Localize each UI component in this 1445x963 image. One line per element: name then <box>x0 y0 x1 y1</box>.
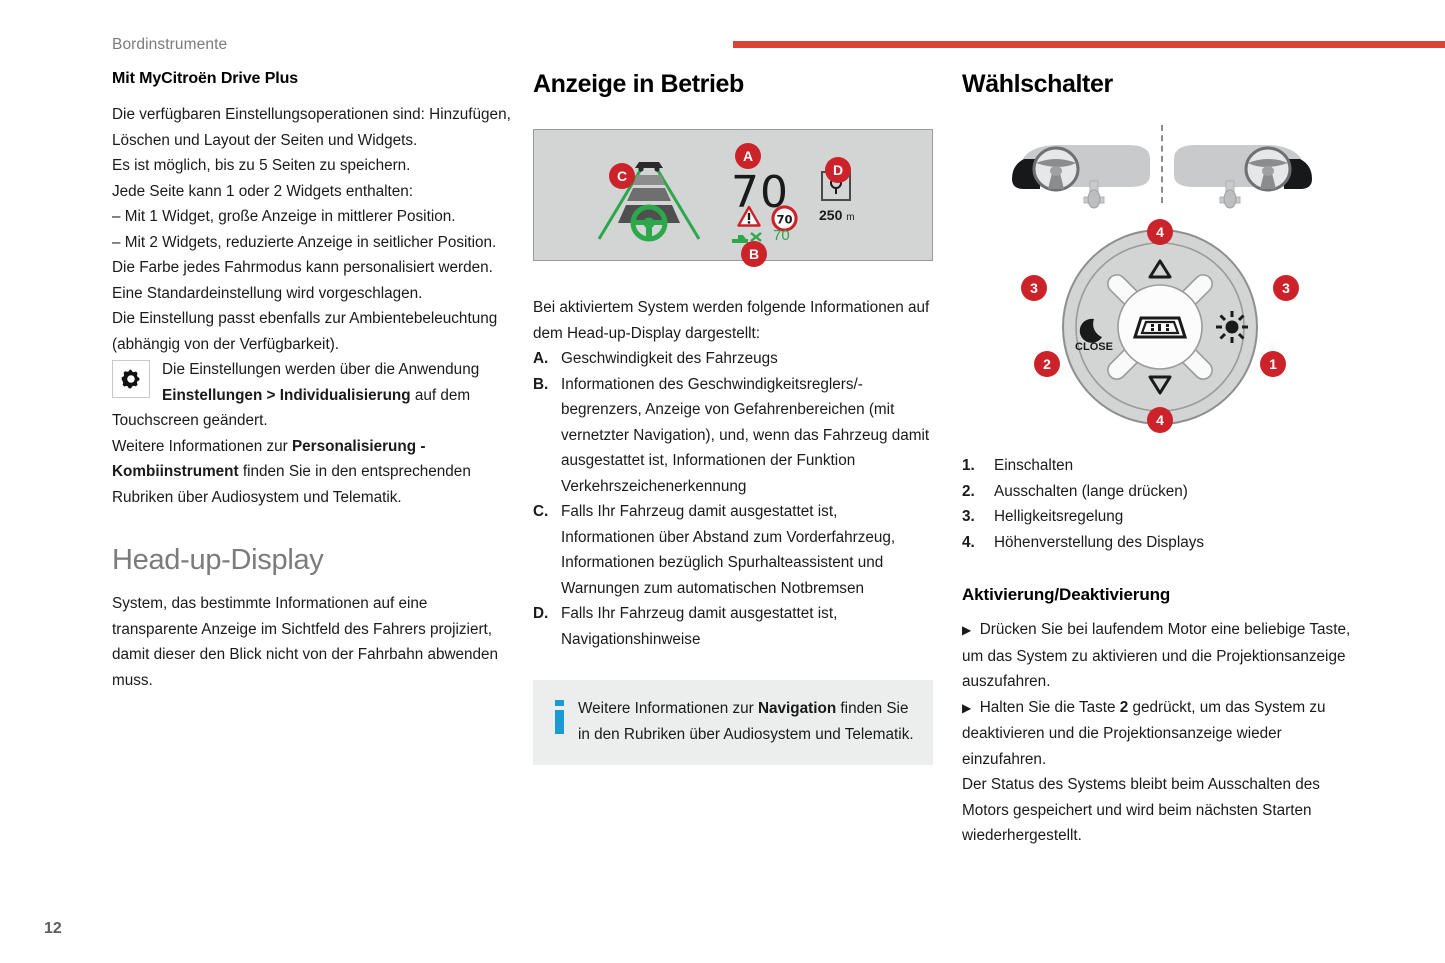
hud-item-d-text: Falls Ihr Fahrzeug damit ausgestattet is… <box>561 601 933 652</box>
header-rule <box>733 41 1445 48</box>
dial-legend-item-1: 1. Einschalten <box>962 453 1362 479</box>
paragraph-widgets-per-page: Jede Seite kann 1 oder 2 Widgets enthalt… <box>112 179 512 205</box>
dial-badge-2: 2 <box>1034 351 1060 377</box>
page-body: Mit MyCitroën Drive Plus Die verfügbaren… <box>0 70 1445 963</box>
gear-note-text-before: Die Einstellungen werden über die Anwend… <box>162 361 479 378</box>
hud-item-d-key: D. <box>533 601 561 652</box>
heading-anzeige-in-betrieb: Anzeige in Betrieb <box>533 70 933 99</box>
dial-badge-3-right: 3 <box>1273 275 1299 301</box>
bullet-one-widget: – Mit 1 Widget, große Anzeige in mittler… <box>112 204 512 230</box>
arrow-instruction-1-text: Drücken Sie bei laufendem Motor eine bel… <box>962 621 1350 690</box>
info-callout-bold: Navigation <box>758 700 836 717</box>
dial-legend-1-text: Einschalten <box>994 453 1073 479</box>
left-hand-drive-dashboard <box>1012 145 1150 208</box>
dial-legend-item-3: 3. Helligkeitsregelung <box>962 504 1362 530</box>
callout-badge-a: A <box>735 143 761 169</box>
hud-item-a-key: A. <box>533 346 561 372</box>
callout-badge-b: B <box>741 241 767 267</box>
navigation-distance-value: 250 <box>819 207 842 223</box>
dial-badge-4-bottom: 4 <box>1147 407 1173 433</box>
arrow-instruction-1: ▶ Drücken Sie bei laufendem Motor eine b… <box>962 617 1362 695</box>
dial-legend-4-key: 4. <box>962 530 994 556</box>
paragraph-status-memory: Der Status des Systems bleibt beim Aussc… <box>962 772 1362 849</box>
callout-badge-c: C <box>609 163 635 189</box>
svg-text:70: 70 <box>776 212 792 226</box>
dial-legend-2-text: Ausschalten (lange drücken) <box>994 479 1188 505</box>
callout-badge-d: D <box>825 157 851 183</box>
navigation-distance-unit: m <box>846 212 854 223</box>
dial-badge-1: 1 <box>1260 351 1286 377</box>
dial-legend-1-key: 1. <box>962 453 994 479</box>
dial-legend-item-2: 2. Ausschalten (lange drücken) <box>962 479 1362 505</box>
dial-legend-3-key: 3. <box>962 504 994 530</box>
arrow-instruction-2: ▶ Halten Sie die Taste 2 gedrückt, um da… <box>962 695 1362 773</box>
page-number: 12 <box>44 920 62 938</box>
hud-item-list: A. Geschwindigkeit des Fahrzeugs B. Info… <box>533 346 933 652</box>
cruise-speed-value: 70 <box>773 227 790 244</box>
page-header: Bordinstrumente <box>0 0 1445 70</box>
svg-text:CLOSE: CLOSE <box>1075 341 1113 353</box>
dashed-divider <box>1161 125 1163 203</box>
column-middle: Anzeige in Betrieb <box>533 70 933 765</box>
arrow-bullet-icon-1: ▶ <box>962 623 971 637</box>
column-right: Wählschalter <box>962 70 1362 849</box>
dial-legend-list: 1. Einschalten 2. Ausschalten (lange drü… <box>962 453 1362 555</box>
navigation-distance: 250 m <box>819 207 855 223</box>
hud-item-b: B. Informationen des Geschwindigkeitsreg… <box>533 372 933 500</box>
lane-keeping-assist-icon <box>591 153 707 250</box>
hud-item-c-key: C. <box>533 499 561 601</box>
dial-graphic: CLOSE <box>1030 221 1290 438</box>
hud-item-c-text: Falls Ihr Fahrzeug damit ausgestattet is… <box>561 499 933 601</box>
dial-legend-2-key: 2. <box>962 479 994 505</box>
paragraph-max-pages: Es ist möglich, bis zu 5 Seiten zu speic… <box>112 153 512 179</box>
hud-item-b-text: Informationen des Geschwindigkeitsregler… <box>561 372 933 500</box>
paragraph-ambient-lighting: Die Einstellung passt ebenfalls zur Ambi… <box>112 306 512 357</box>
hud-item-a-text: Geschwindigkeit des Fahrzeugs <box>561 346 933 372</box>
info-callout-part-1: Weitere Informationen zur <box>578 700 758 717</box>
info-callout: Weitere Informationen zur Navigation fin… <box>533 680 933 765</box>
heading-waehlschalter: Wählschalter <box>962 70 1362 99</box>
breadcrumb: Bordinstrumente <box>112 36 227 54</box>
arrow-instruction-2-bold: 2 <box>1120 699 1129 716</box>
danger-triangle-icon <box>737 205 761 232</box>
paragraph-drive-mode-color: Die Farbe jedes Fahrmodus kann personali… <box>112 255 512 306</box>
dial-badge-3-left: 3 <box>1021 275 1047 301</box>
gear-note: Die Einstellungen werden über die Anwend… <box>112 357 512 434</box>
paragraph-settings-operations: Die verfügbaren Einstellungsoperationen … <box>112 102 512 153</box>
paragraph-hud-intro: Bei aktiviertem System werden folgende I… <box>533 295 933 346</box>
arrow-instruction-2-part-1: Halten Sie die Taste <box>980 699 1120 716</box>
info-icon <box>555 700 564 734</box>
personalisation-part-1: Weitere Informationen zur <box>112 438 292 455</box>
paragraph-hud-description: System, das bestimmte Informationen auf … <box>112 591 512 693</box>
gear-note-text-bold: Einstellungen > Individualisierung <box>162 387 411 404</box>
hud-item-d: D. Falls Ihr Fahrzeug damit ausgestattet… <box>533 601 933 652</box>
hud-figure: 70 70 <box>533 121 933 269</box>
column-left: Mit MyCitroën Drive Plus Die verfügbaren… <box>112 70 512 693</box>
right-hand-drive-dashboard <box>1174 145 1312 208</box>
hud-item-a: A. Geschwindigkeit des Fahrzeugs <box>533 346 933 372</box>
dial-legend-item-4: 4. Höhenverstellung des Displays <box>962 530 1362 556</box>
hud-item-b-key: B. <box>533 372 561 500</box>
chapter-heading-head-up-display: Head-up-Display <box>112 544 512 577</box>
section-heading-aktivierung-deaktivierung: Aktivierung/Deaktivierung <box>962 585 1362 605</box>
gear-icon <box>112 360 150 398</box>
dashboard-variants-figure <box>962 121 1362 213</box>
bullet-two-widgets: – Mit 2 Widgets, reduzierte Anzeige in s… <box>112 230 512 256</box>
dial-legend-4-text: Höhenverstellung des Displays <box>994 530 1204 556</box>
hud-item-c: C. Falls Ihr Fahrzeug damit ausgestattet… <box>533 499 933 601</box>
paragraph-personalisation-ref: Weitere Informationen zur Personalisieru… <box>112 434 512 511</box>
dial-legend-3-text: Helligkeitsregelung <box>994 504 1123 530</box>
dial-badge-4-top: 4 <box>1147 219 1173 245</box>
dial-figure: CLOSE 4 3 3 2 1 4 <box>962 221 1362 433</box>
arrow-bullet-icon-2: ▶ <box>962 701 971 715</box>
subheading-mycitroen-drive-plus: Mit MyCitroën Drive Plus <box>112 70 512 88</box>
